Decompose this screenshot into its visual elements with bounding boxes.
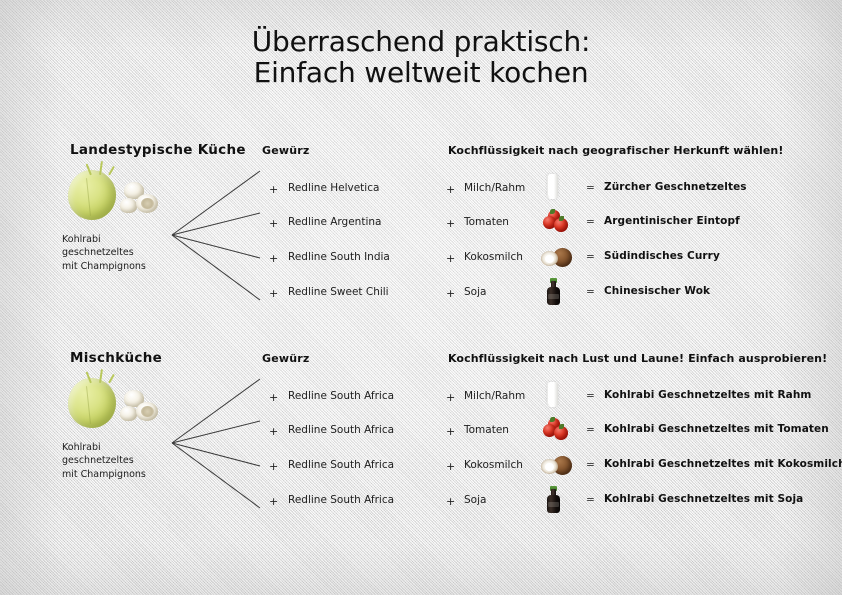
equals-sign: =	[586, 251, 595, 263]
spice-label[interactable]: Redline Sweet Chili	[288, 286, 389, 298]
tomatoes-icon	[538, 208, 574, 238]
equals-sign: =	[586, 182, 595, 194]
spice-label[interactable]: Redline South Africa	[288, 459, 394, 471]
recipe-row: + Redline South Africa + Tomaten = Kohlr…	[0, 424, 842, 440]
spice-label[interactable]: Redline South Africa	[288, 390, 394, 402]
result-label: Kohlrabi Geschnetzeltes mit Rahm	[604, 389, 811, 401]
page-title: Überraschend praktisch: Einfach weltweit…	[0, 26, 842, 89]
plus-sign: +	[269, 252, 278, 265]
liquid-label[interactable]: Milch/Rahm	[464, 390, 525, 402]
result-label: Kohlrabi Geschnetzeltes mit Soja	[604, 493, 803, 505]
tomatoes-icon	[538, 416, 574, 446]
column-header-liquid: Kochflüssigkeit nach geografischer Herku…	[448, 144, 783, 157]
equals-sign: =	[586, 424, 595, 436]
mushroom-gill	[141, 198, 154, 209]
recipe-row: + Redline Argentina + Tomaten = Argentin…	[0, 216, 842, 232]
spice-label[interactable]: Redline South Africa	[288, 424, 394, 436]
plus-sign: +	[269, 425, 278, 438]
mushroom-icon	[120, 198, 137, 213]
liquid-label[interactable]: Soja	[464, 494, 486, 506]
column-header-liquid: Kochflüssigkeit nach Lust und Laune! Ein…	[448, 352, 827, 365]
liquid-label[interactable]: Kokosmilch	[464, 459, 523, 471]
page-title-line-2: Einfach weltweit kochen	[0, 57, 842, 88]
kohlrabi-stem-icon	[108, 166, 115, 176]
equals-sign: =	[586, 390, 595, 402]
result-label: Chinesischer Wok	[604, 285, 710, 297]
result-label: Zürcher Geschnetzeltes	[604, 181, 747, 193]
column-header-spice: Gewürz	[262, 352, 310, 365]
plus-sign: +	[446, 287, 455, 300]
result-label: Argentinischer Eintopf	[604, 215, 740, 227]
spice-label[interactable]: Redline South Africa	[288, 494, 394, 506]
equals-sign: =	[586, 216, 595, 228]
plus-sign: +	[446, 217, 455, 230]
plus-sign: +	[269, 460, 278, 473]
plus-sign: +	[269, 495, 278, 508]
liquid-label[interactable]: Milch/Rahm	[464, 182, 525, 194]
recipe-row: + Redline South Africa + Kokosmilch = Ko…	[0, 459, 842, 475]
plus-sign: +	[269, 391, 278, 404]
plus-sign: +	[446, 183, 455, 196]
result-label: Kohlrabi Geschnetzeltes mit Tomaten	[604, 423, 829, 435]
result-label: Kohlrabi Geschnetzeltes mit Kokosmilch	[604, 458, 842, 470]
recipe-row: + Redline Helvetica + Milch/Rahm = Zürch…	[0, 182, 842, 198]
recipe-row: + Redline Sweet Chili + Soja = Chinesisc…	[0, 286, 842, 302]
plus-sign: +	[446, 252, 455, 265]
coconut-icon	[538, 451, 574, 481]
mushroom-icon	[120, 406, 137, 421]
plus-sign: +	[446, 391, 455, 404]
soysauce-icon	[538, 278, 574, 308]
recipe-row: + Redline South India + Kokosmilch = Süd…	[0, 251, 842, 267]
equals-sign: =	[586, 286, 595, 298]
milk-icon	[538, 382, 574, 412]
mushroom-gill	[141, 406, 154, 417]
plus-sign: +	[269, 183, 278, 196]
plus-sign: +	[446, 495, 455, 508]
spice-label[interactable]: Redline Argentina	[288, 216, 381, 228]
spice-label[interactable]: Redline Helvetica	[288, 182, 379, 194]
coconut-icon	[538, 243, 574, 273]
plus-sign: +	[269, 287, 278, 300]
kohlrabi-stem-icon	[99, 369, 103, 383]
liquid-label[interactable]: Tomaten	[464, 216, 509, 228]
equals-sign: =	[586, 494, 595, 506]
column-header-spice: Gewürz	[262, 144, 310, 157]
section-title: Mischküche	[70, 350, 162, 366]
recipe-row: + Redline South Africa + Milch/Rahm = Ko…	[0, 390, 842, 406]
plus-sign: +	[446, 425, 455, 438]
liquid-label[interactable]: Soja	[464, 286, 486, 298]
liquid-label[interactable]: Tomaten	[464, 424, 509, 436]
soysauce-icon	[538, 486, 574, 516]
kohlrabi-stem-icon	[99, 161, 103, 175]
milk-icon	[538, 174, 574, 204]
plus-sign: +	[269, 217, 278, 230]
kohlrabi-stem-icon	[108, 374, 115, 384]
liquid-label[interactable]: Kokosmilch	[464, 251, 523, 263]
recipe-row: + Redline South Africa + Soja = Kohlrabi…	[0, 494, 842, 510]
plus-sign: +	[446, 460, 455, 473]
equals-sign: =	[586, 459, 595, 471]
result-label: Südindisches Curry	[604, 250, 720, 262]
page-title-line-1: Überraschend praktisch:	[0, 26, 842, 57]
spice-label[interactable]: Redline South India	[288, 251, 390, 263]
section-title: Landestypische Küche	[70, 142, 246, 158]
